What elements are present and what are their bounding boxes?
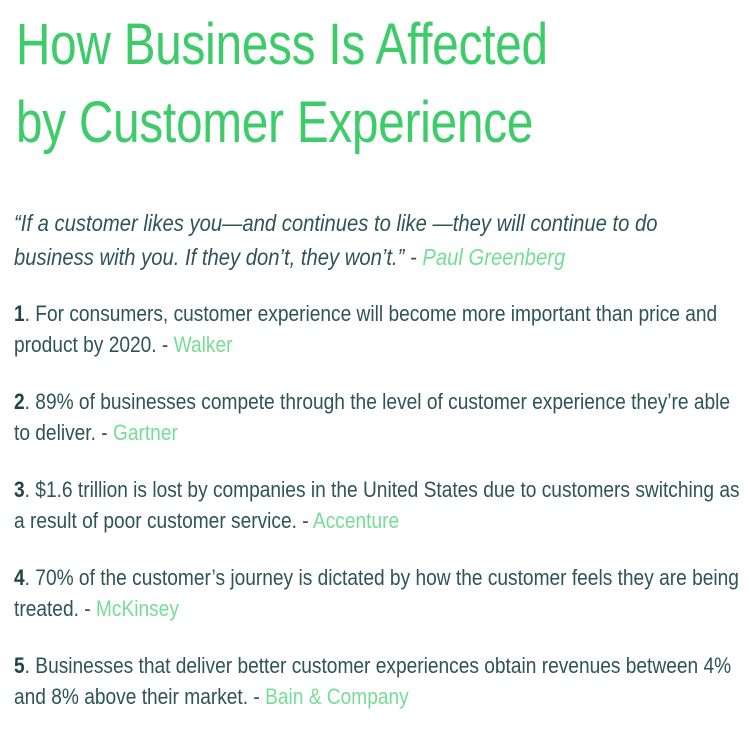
fact-text: 3. $1.6 trillion is lost by companies in… xyxy=(14,474,741,536)
fact-source-separator: - xyxy=(96,420,113,445)
fact-text: 4. 70% of the customer’s journey is dict… xyxy=(14,562,741,624)
page-title-line-2: by Customer Experience xyxy=(16,84,606,162)
list-item: 4. 70% of the customer’s journey is dict… xyxy=(14,562,744,624)
fact-source: Accenture xyxy=(313,508,399,533)
fact-number: 5 xyxy=(14,653,25,678)
fact-source: Bain & Company xyxy=(265,684,409,709)
fact-text: 1. For consumers, customer experience wi… xyxy=(14,298,741,360)
fact-number: 2 xyxy=(14,389,25,414)
fact-source-separator: - xyxy=(297,508,313,533)
fact-source: McKinsey xyxy=(96,596,179,621)
fact-source-separator: - xyxy=(79,596,96,621)
fact-source: Gartner xyxy=(113,420,178,445)
list-item: 2. 89% of businesses compete through the… xyxy=(14,386,744,448)
pull-quote: “If a customer likes you—and continues t… xyxy=(14,206,739,274)
page-title: How Business Is Affected by Customer Exp… xyxy=(16,6,736,162)
fact-source-separator: - xyxy=(157,332,174,357)
fact-number-suffix: . xyxy=(25,301,36,326)
pull-quote-separator: - xyxy=(404,244,422,270)
fact-number: 3 xyxy=(14,477,25,502)
fact-number: 1 xyxy=(14,301,25,326)
pull-quote-text: “If a customer likes you—and continues t… xyxy=(14,206,735,274)
fact-number-suffix: . xyxy=(25,389,36,414)
page-title-line-1: How Business Is Affected xyxy=(16,6,606,84)
fact-number-suffix: . xyxy=(25,653,36,678)
list-item: 5. Businesses that deliver better custom… xyxy=(14,650,744,712)
fact-number: 4 xyxy=(14,565,25,590)
fact-text: 5. Businesses that deliver better custom… xyxy=(14,650,741,712)
list-item: 3. $1.6 trillion is lost by companies in… xyxy=(14,474,744,536)
fact-body: For consumers, customer experience will … xyxy=(14,301,717,357)
pull-quote-author: Paul Greenberg xyxy=(422,244,565,270)
fact-text: 2. 89% of businesses compete through the… xyxy=(14,386,741,448)
fact-source: Walker xyxy=(174,332,233,357)
fact-list: 1. For consumers, customer experience wi… xyxy=(14,298,744,712)
fact-number-suffix: . xyxy=(25,565,36,590)
fact-number-suffix: . xyxy=(25,477,36,502)
list-item: 1. For consumers, customer experience wi… xyxy=(14,298,744,360)
fact-source-separator: - xyxy=(248,684,265,709)
infographic-page: How Business Is Affected by Customer Exp… xyxy=(0,0,750,747)
